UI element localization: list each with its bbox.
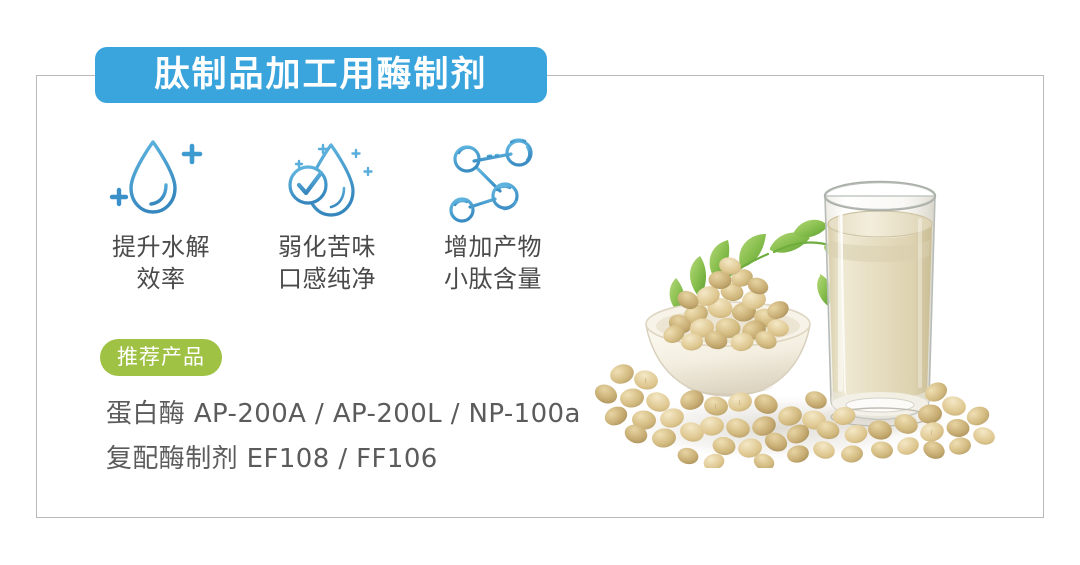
- title-banner: 肽制品加工用酶制剂: [95, 47, 547, 103]
- droplet-check-sparkle-icon: [275, 128, 379, 224]
- product-list: 蛋白酶 AP-200A / AP-200L / NP-100a 复配酶制剂 EF…: [106, 392, 581, 481]
- product-line-protease: 蛋白酶 AP-200A / AP-200L / NP-100a: [106, 392, 581, 437]
- feature-caption-line2: 口感纯净: [278, 264, 376, 296]
- infographic-page: 肽制品加工用酶制剂: [0, 0, 1080, 565]
- molecule-peptide-icon: [441, 128, 545, 224]
- feature-caption: 提升水解 效率: [112, 232, 210, 295]
- page-title: 肽制品加工用酶制剂: [154, 58, 487, 93]
- feature-caption-line1: 弱化苦味: [278, 233, 376, 261]
- soy-milk-glass-and-soybean-bowl-photo: [588, 128, 998, 468]
- feature-caption-line1: 提升水解: [112, 233, 210, 261]
- feature-item-hydrolysis-efficiency: 提升水解 效率: [78, 128, 244, 295]
- water-droplet-plus-icon: [109, 128, 213, 224]
- feature-caption: 增加产物 小肽含量: [444, 232, 542, 295]
- feature-caption: 弱化苦味 口感纯净: [278, 232, 376, 295]
- feature-caption-line2: 小肽含量: [444, 264, 542, 296]
- feature-item-peptide-yield: 增加产物 小肽含量: [410, 128, 576, 295]
- feature-caption-line2: 效率: [112, 264, 210, 296]
- recommended-products-badge: 推荐产品: [100, 339, 222, 376]
- feature-list: 提升水解 效率: [78, 128, 578, 295]
- feature-item-bitterness-reduction: 弱化苦味 口感纯净: [244, 128, 410, 295]
- feature-caption-line1: 增加产物: [444, 233, 542, 261]
- product-line-compound-enzyme: 复配酶制剂 EF108 / FF106: [106, 437, 581, 482]
- recommended-products-label: 推荐产品: [117, 347, 205, 368]
